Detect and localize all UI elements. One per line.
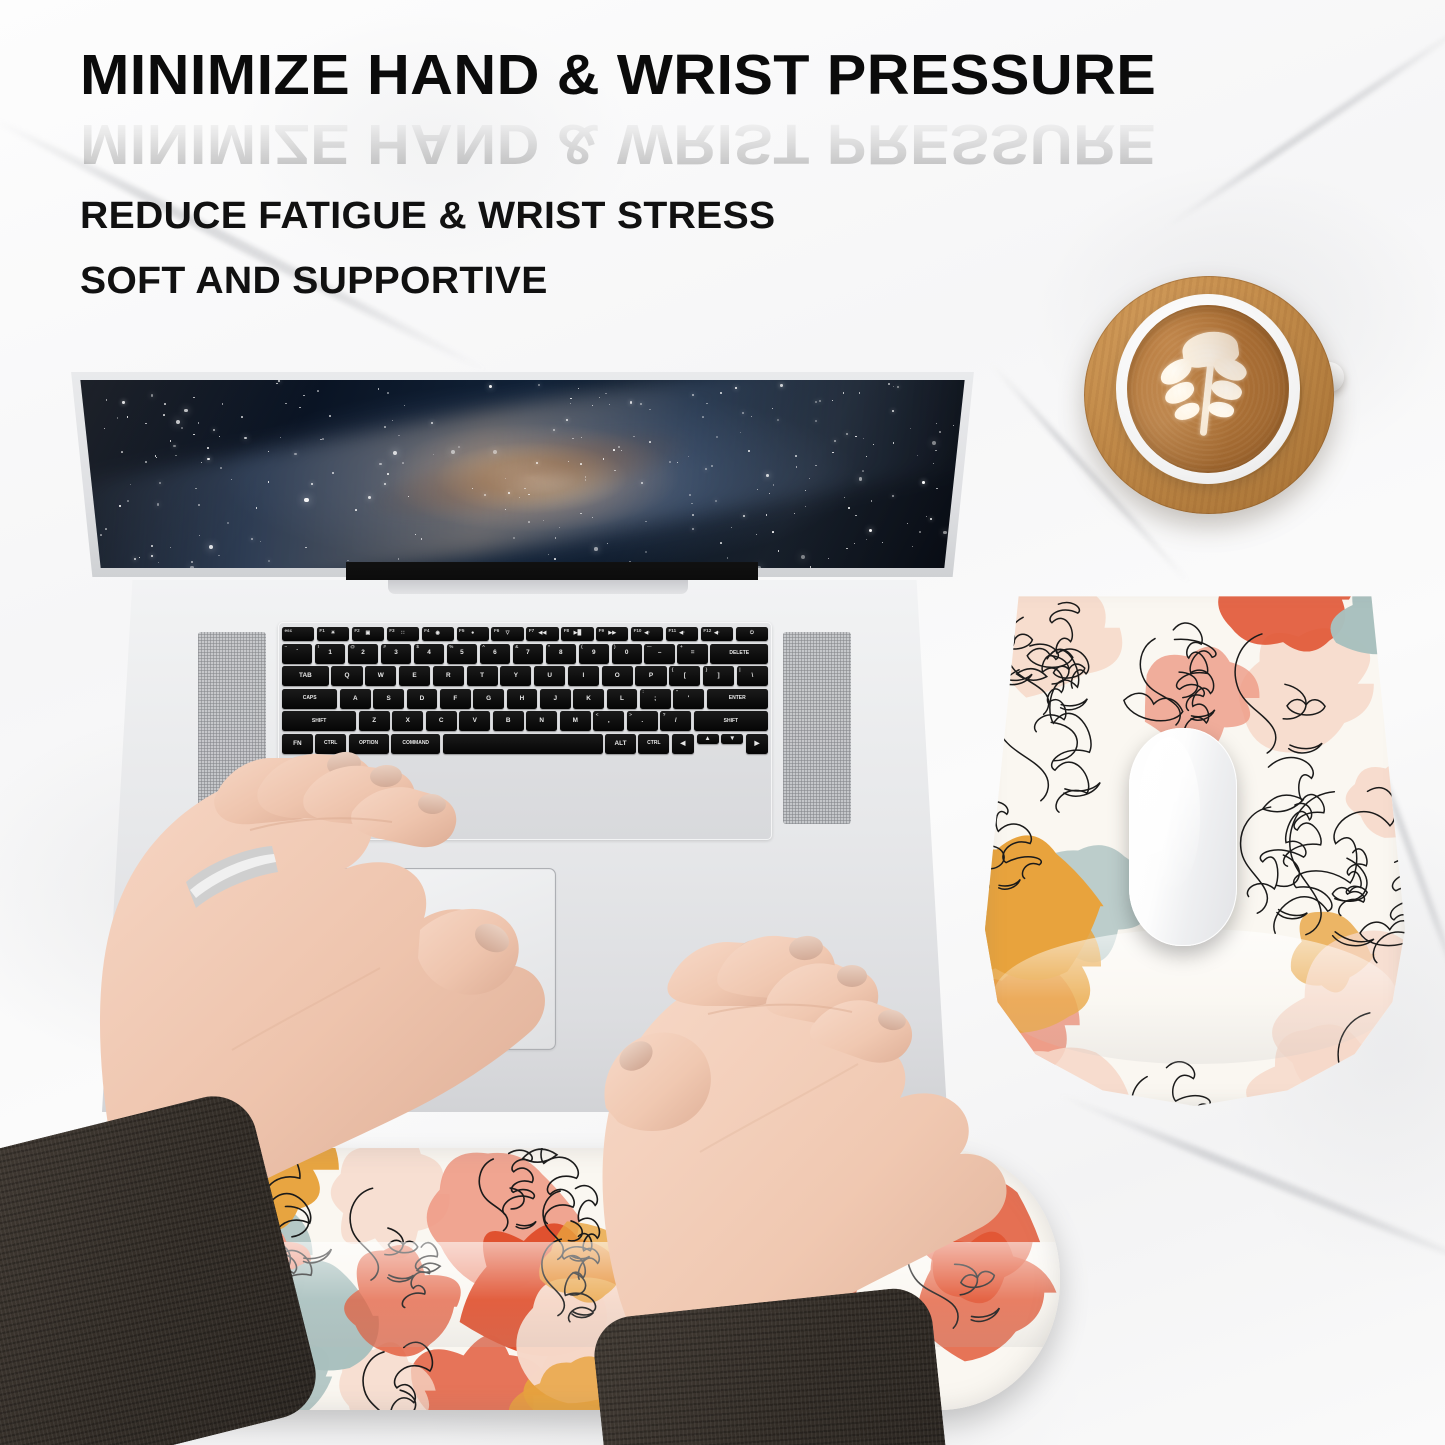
key-secondary-label: F11	[668, 629, 676, 634]
key-label: ◀	[680, 741, 685, 747]
key-label: 8	[559, 650, 563, 656]
key-label: ◀·	[679, 631, 685, 636]
key-secondary-label: F12	[703, 629, 711, 634]
product-marketing-image: MINIMIZE HAND & WRIST PRESSURE MINIMIZE …	[0, 0, 1445, 1445]
key-p[interactable]: P	[635, 666, 666, 686]
key-c[interactable]: C	[426, 711, 457, 731]
key-caps[interactable]: CAPS	[282, 689, 337, 709]
key-2[interactable]: @2	[348, 644, 378, 664]
key-label: CTRL	[324, 741, 337, 746]
key-d[interactable]: D	[407, 689, 438, 709]
key-0[interactable]: )0	[612, 644, 642, 664]
key-t[interactable]: T	[467, 666, 498, 686]
key-blank[interactable]: :;	[640, 689, 671, 709]
key-label: TAB	[299, 673, 312, 679]
key-7[interactable]: &7	[513, 644, 543, 664]
key-secondary-label: !	[317, 645, 319, 650]
key-label: Q	[344, 673, 349, 679]
key-u[interactable]: U	[534, 666, 565, 686]
key-secondary-label: <	[596, 713, 599, 718]
trackpad[interactable]	[330, 868, 556, 1050]
key-label: ENTER	[729, 696, 746, 701]
key-blank[interactable]: +=	[677, 644, 707, 664]
mouse-gloss-highlight	[1138, 737, 1201, 890]
key-j[interactable]: J	[540, 689, 571, 709]
key-label: ◀◀	[539, 631, 547, 636]
latte-art-leaf	[1172, 401, 1201, 423]
key-k[interactable]: K	[573, 689, 604, 709]
key-shift[interactable]: SHIFT	[282, 711, 356, 731]
laptop: escF1☀F2▣F3∷F4◉F5●F6▽F7◀◀F8▶█F9▶▶F10◀·F1…	[60, 372, 985, 1112]
key-label: ☀	[331, 631, 336, 636]
key-label: L	[620, 696, 624, 702]
keyboard-row-home-row: CAPSASDFGHJKL:;"'ENTER	[282, 689, 768, 709]
key-secondary-label: F3	[389, 629, 394, 634]
key-blank[interactable]: F6▽	[491, 627, 523, 641]
key-blank[interactable]: ⏻	[736, 627, 768, 641]
latte-art-leaf	[1206, 399, 1235, 421]
key-secondary-label: {	[672, 668, 674, 673]
keyboard-row-bottom-row: FNCTRLOPTIONCOMMANDALTCTRL◀▲▼▶	[282, 734, 768, 754]
key-secondary-label: *	[548, 645, 550, 650]
star	[964, 520, 965, 521]
key-secondary-label: +	[680, 645, 683, 650]
key-label: B	[506, 718, 511, 724]
key-label: ▶	[755, 741, 760, 747]
key-o[interactable]: O	[602, 666, 633, 686]
key-secondary-label: ^	[482, 645, 485, 650]
key-blank[interactable]: ▼	[721, 734, 743, 744]
key-blank[interactable]: F7◀◀	[526, 627, 558, 641]
key-label: 3	[394, 650, 398, 656]
latte-art-stem	[1200, 342, 1217, 436]
key-secondary-label: }	[705, 668, 707, 673]
hinge-notch	[388, 580, 688, 594]
key-q[interactable]: Q	[331, 666, 362, 686]
key-label: ▽	[506, 631, 510, 636]
star	[68, 540, 70, 542]
key-label: D	[420, 696, 425, 702]
latte-art-leaf	[1157, 355, 1196, 389]
key-x[interactable]: X	[392, 711, 423, 731]
headline-sub-1: REDUCE FATIGUE & WRIST STRESS	[80, 195, 1146, 238]
key-label: 4	[427, 650, 431, 656]
key-blank[interactable]: F11◀·	[666, 627, 698, 641]
key-secondary-label: @	[350, 645, 354, 650]
key-blank[interactable]: F8▶█	[561, 627, 593, 641]
star	[966, 521, 968, 523]
key-label: K	[586, 696, 591, 702]
key-4[interactable]: $4	[414, 644, 444, 664]
key-label: 1	[328, 650, 332, 656]
key-label: ▶▶	[608, 631, 616, 636]
key-label: ALT	[615, 741, 627, 747]
speaker-grille-left	[198, 632, 266, 824]
key-label: ◉	[436, 631, 441, 636]
key-label: 7	[526, 650, 530, 656]
key-label: G	[486, 696, 491, 702]
key-tab[interactable]: TAB	[282, 666, 329, 686]
key-secondary-label: esc	[285, 629, 293, 634]
key-blank[interactable]: F2▣	[352, 627, 384, 641]
key-i[interactable]: I	[568, 666, 599, 686]
key-secondary-label: "	[676, 690, 678, 695]
key-secondary-label: #	[383, 645, 386, 650]
star	[975, 508, 977, 510]
key-ctrl[interactable]: CTRL	[638, 734, 669, 754]
keyboard-row-qwerty-row: TABQWERTYUIOP{[}]|\	[282, 666, 768, 686]
key-z[interactable]: Z	[359, 711, 390, 731]
key-label: ●	[471, 631, 474, 636]
key-enter[interactable]: ENTER	[707, 689, 768, 709]
key-label: ▶█	[574, 631, 582, 636]
key-secondary-label: (	[581, 645, 583, 650]
key-6[interactable]: ^6	[480, 644, 510, 664]
key-ctrl[interactable]: CTRL	[315, 734, 346, 754]
key-label: F	[453, 696, 457, 702]
key-secondary-label: &	[515, 645, 518, 650]
key-secondary-label: )	[614, 645, 616, 650]
key-label: 6	[493, 650, 497, 656]
key-blank[interactable]: ▶	[746, 734, 768, 754]
headline-block: MINIMIZE HAND & WRIST PRESSURE MINIMIZE …	[80, 42, 1115, 303]
key-secondary-label: F6	[494, 629, 499, 634]
key-label: T	[480, 673, 484, 679]
latte-art-leaf	[1162, 379, 1197, 407]
key-label: DELETE	[729, 651, 749, 656]
key-label: ◀·	[714, 631, 720, 636]
key-label: Z	[372, 718, 376, 724]
screen-glare	[60, 380, 985, 568]
key-1[interactable]: !1	[315, 644, 345, 664]
key-secondary-label: $	[416, 645, 419, 650]
key-shift[interactable]: SHIFT	[694, 711, 768, 731]
key-secondary-label: F2	[354, 629, 359, 634]
key-label: 0	[625, 650, 629, 656]
pattern-blob	[739, 1201, 860, 1308]
key-blank[interactable]: {[	[669, 666, 700, 686]
key-y[interactable]: Y	[500, 666, 531, 686]
key-label: S	[386, 696, 390, 702]
key-secondary-label: F10	[634, 629, 642, 634]
coffee-cup-with-saucer	[1078, 270, 1368, 525]
key-command[interactable]: COMMAND	[391, 734, 440, 754]
key-label: OPTION	[359, 741, 378, 746]
key-secondary-label: F4	[424, 629, 429, 634]
key-secondary-label: |	[739, 668, 740, 673]
key-label: [	[684, 673, 686, 679]
key-blank[interactable]: <,	[593, 711, 624, 731]
key-blank[interactable]: >.	[627, 711, 658, 731]
key-blank[interactable]: F12◀·	[701, 627, 733, 641]
headline-main: MINIMIZE HAND & WRIST PRESSURE	[80, 42, 1156, 108]
key-blank[interactable]: F10◀·	[631, 627, 663, 641]
key-8[interactable]: *8	[546, 644, 576, 664]
key-label: C	[439, 718, 444, 724]
key-blank[interactable]: ~`	[282, 644, 312, 664]
star	[984, 394, 985, 398]
key-secondary-label: F8	[564, 629, 569, 634]
key-blank[interactable]: F9▶▶	[596, 627, 628, 641]
keyboard-row-shift-row: SHIFTZXCVBNM<,>.?/SHIFT	[282, 711, 768, 731]
star	[966, 454, 968, 456]
key-label: CAPS	[303, 696, 317, 701]
key-label: ]	[717, 673, 719, 679]
key-label: O	[615, 673, 620, 679]
key-9[interactable]: (9	[579, 644, 609, 664]
key-label: '	[688, 696, 690, 702]
key-h[interactable]: H	[507, 689, 538, 709]
key-w[interactable]: W	[365, 666, 396, 686]
key-r[interactable]: R	[433, 666, 464, 686]
key-label: ▣	[366, 631, 371, 636]
key-label: –	[658, 650, 662, 656]
star	[970, 442, 971, 443]
key-label: COMMAND	[402, 741, 429, 746]
key-blank[interactable]: —–	[644, 644, 674, 664]
laptop-base: escF1☀F2▣F3∷F4◉F5●F6▽F7◀◀F8▶█F9▶▶F10◀·F1…	[102, 580, 947, 1112]
key-f[interactable]: F	[440, 689, 471, 709]
key-secondary-label: F1	[319, 629, 324, 634]
key-fn[interactable]: FN	[282, 734, 313, 754]
key-blank[interactable]: F4◉	[422, 627, 454, 641]
keyboard-row-function-row: escF1☀F2▣F3∷F4◉F5●F6▽F7◀◀F8▶█F9▶▶F10◀·F1…	[282, 627, 768, 641]
key-secondary-label: %	[449, 645, 453, 650]
key-option[interactable]: OPTION	[349, 734, 389, 754]
key-label: SHIFT	[724, 719, 738, 724]
key-label: ∷	[401, 631, 404, 636]
key-secondary-label: —	[647, 645, 652, 650]
key-label: P	[649, 673, 653, 679]
key-b[interactable]: B	[493, 711, 524, 731]
key-blank[interactable]: ▲	[697, 734, 719, 744]
key-blank[interactable]: ?/	[660, 711, 691, 731]
key-secondary-label: ~	[285, 645, 288, 650]
key-secondary-label: F9	[599, 629, 604, 634]
key-secondary-label: :	[642, 690, 644, 695]
star	[73, 551, 74, 552]
key-blank[interactable]: F1☀	[317, 627, 349, 641]
magic-mouse[interactable]	[1129, 728, 1237, 946]
key-label: FN	[293, 741, 302, 747]
key-e[interactable]: E	[399, 666, 430, 686]
white-cup	[1116, 294, 1300, 484]
key-l[interactable]: L	[607, 689, 638, 709]
headline-sub-2: SOFT AND SUPPORTIVE	[80, 260, 1146, 303]
latte-art-cap	[1180, 328, 1240, 369]
key-label: ▼	[729, 736, 735, 742]
key-esc[interactable]: esc	[282, 627, 314, 641]
key-m[interactable]: M	[560, 711, 591, 731]
key-n[interactable]: N	[526, 711, 557, 731]
key-label: ⏻	[750, 631, 754, 636]
laptop-screen	[60, 380, 985, 568]
key-5[interactable]: %5	[447, 644, 477, 664]
key-v[interactable]: V	[459, 711, 490, 731]
key-label: CTRL	[647, 741, 660, 746]
key-a[interactable]: A	[340, 689, 371, 709]
key-blank[interactable]: ◀	[672, 734, 694, 754]
key-secondary-label: ?	[663, 713, 666, 718]
latte-crema	[1127, 305, 1289, 473]
key-label: SHIFT	[312, 719, 326, 724]
key-s[interactable]: S	[373, 689, 404, 709]
key-label: N	[539, 718, 544, 724]
key-label: 2	[361, 650, 365, 656]
trackpad-notch	[398, 1054, 492, 1062]
key-label: ;	[654, 696, 656, 702]
key-label: ,	[608, 718, 610, 724]
key-label: /	[675, 718, 677, 724]
headline-main-reflection: MINIMIZE HAND & WRIST PRESSURE	[80, 111, 1156, 177]
keyboard[interactable]: escF1☀F2▣F3∷F4◉F5●F6▽F7◀◀F8▶█F9▶▶F10◀·F1…	[278, 622, 772, 840]
keyboard-row-number-row: ~`!1@2#3$4%5^6&7*8(9)0—–+=DELETE	[282, 644, 768, 664]
key-label: ▲	[704, 736, 710, 742]
key-secondary-label: F7	[529, 629, 534, 634]
key-label: 9	[592, 650, 596, 656]
key-label: E	[412, 673, 416, 679]
key-label: .	[641, 718, 643, 724]
star	[962, 496, 965, 499]
key-label: H	[520, 696, 525, 702]
key-label: M	[573, 718, 578, 724]
key-g[interactable]: G	[473, 689, 504, 709]
key-label: R	[446, 673, 451, 679]
key-label: ◀·	[644, 631, 650, 636]
key-blank[interactable]: F5●	[457, 627, 489, 641]
star	[967, 477, 968, 478]
key-secondary-label: >	[629, 713, 632, 718]
key-label: V	[473, 718, 477, 724]
speaker-grille-right	[783, 632, 851, 824]
star	[74, 484, 75, 485]
key-key[interactable]	[443, 734, 603, 754]
key-label: I	[583, 673, 585, 679]
key-3[interactable]: #3	[381, 644, 411, 664]
key-alt[interactable]: ALT	[605, 734, 636, 754]
key-label: Y	[514, 673, 518, 679]
latte-art-leaf	[1210, 352, 1249, 386]
latte-art-leaf	[1209, 375, 1244, 403]
key-label: =	[691, 650, 695, 656]
key-blank[interactable]: F3∷	[387, 627, 419, 641]
key-secondary-label: F5	[459, 629, 464, 634]
key-label: 5	[460, 650, 464, 656]
key-label: `	[296, 650, 298, 656]
key-blank[interactable]: }]	[703, 666, 734, 686]
key-label: U	[547, 673, 552, 679]
key-delete[interactable]: DELETE	[710, 644, 768, 664]
key-label: A	[353, 696, 358, 702]
key-label: W	[378, 673, 384, 679]
key-blank[interactable]: |\	[737, 666, 768, 686]
key-label: J	[553, 696, 557, 702]
key-label: X	[406, 718, 410, 724]
key-label: \	[751, 673, 753, 679]
key-blank[interactable]: "'	[673, 689, 704, 709]
